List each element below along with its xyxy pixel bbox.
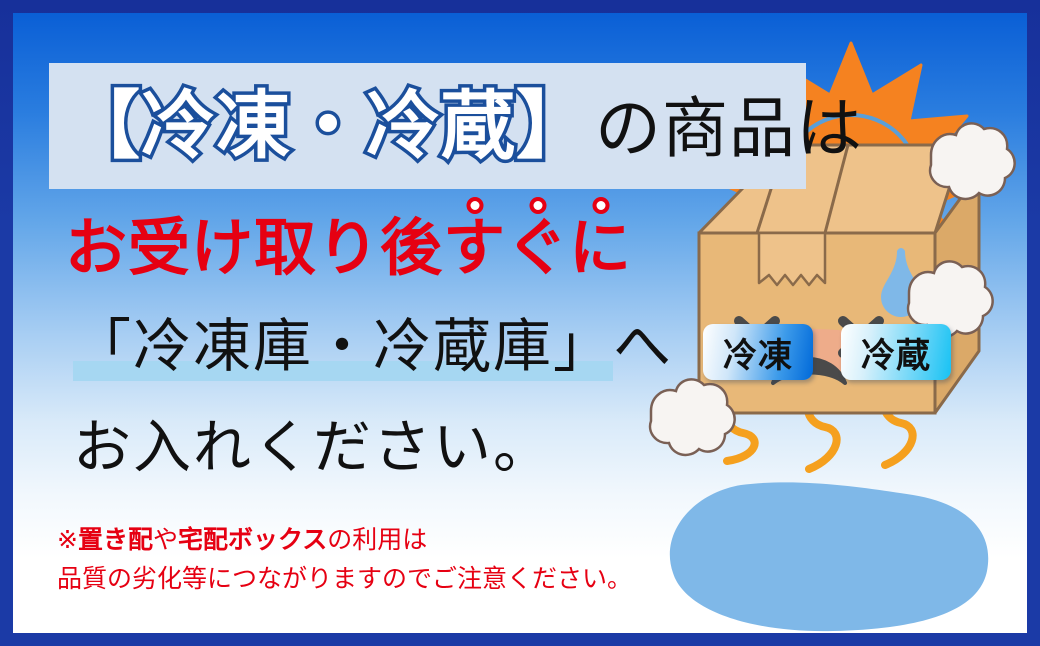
storage-suffix: へ (613, 314, 673, 379)
storage-highlighted-text: 「冷凍庫・冷蔵庫」 (73, 314, 613, 381)
badge-chilled: 冷蔵 (841, 324, 951, 380)
footnote-strong-okihai: 置き配 (78, 526, 153, 554)
title-rest: の商品は (595, 95, 863, 161)
dotted-char-3: に (569, 218, 632, 280)
urgency-dotted-group: すぐに (443, 218, 632, 280)
instruction-line: お入れください。 (73, 419, 553, 477)
banner-inner-background: 【冷凍・冷蔵】 の商品は お受け取り後すぐに 「冷凍庫・冷蔵庫」へ お入れくださ… (13, 13, 1027, 633)
footnote-line-2: 品質の劣化等につながりますのでご注意ください。 (57, 560, 632, 599)
footnote-line-1: ※置き配や宅配ボックスの利用は (57, 521, 632, 560)
title-strip: 【冷凍・冷蔵】 の商品は (49, 63, 806, 189)
urgency-prefix: お受け取り後 (65, 214, 443, 283)
puddle-shape (670, 482, 988, 631)
footnote-tail: の利用は (327, 526, 427, 554)
storage-line: 「冷凍庫・冷蔵庫」へ (73, 318, 673, 376)
dotted-char-2: ぐ (506, 218, 569, 280)
dotted-char-1: す (443, 218, 506, 280)
footnote-mid: や (153, 526, 178, 554)
urgency-line: お受け取り後すぐに (65, 218, 632, 280)
title-emphasis: 【冷凍・冷蔵】 (66, 89, 591, 163)
footnote-mark: ※ (57, 526, 78, 554)
footnote: ※置き配や宅配ボックスの利用は 品質の劣化等につながりますのでご注意ください。 (57, 521, 632, 599)
footnote-strong-delivery-box: 宅配ボックス (178, 526, 327, 554)
badge-frozen: 冷凍 (703, 324, 813, 380)
notice-banner: 【冷凍・冷蔵】 の商品は お受け取り後すぐに 「冷凍庫・冷蔵庫」へ お入れくださ… (0, 0, 1040, 646)
